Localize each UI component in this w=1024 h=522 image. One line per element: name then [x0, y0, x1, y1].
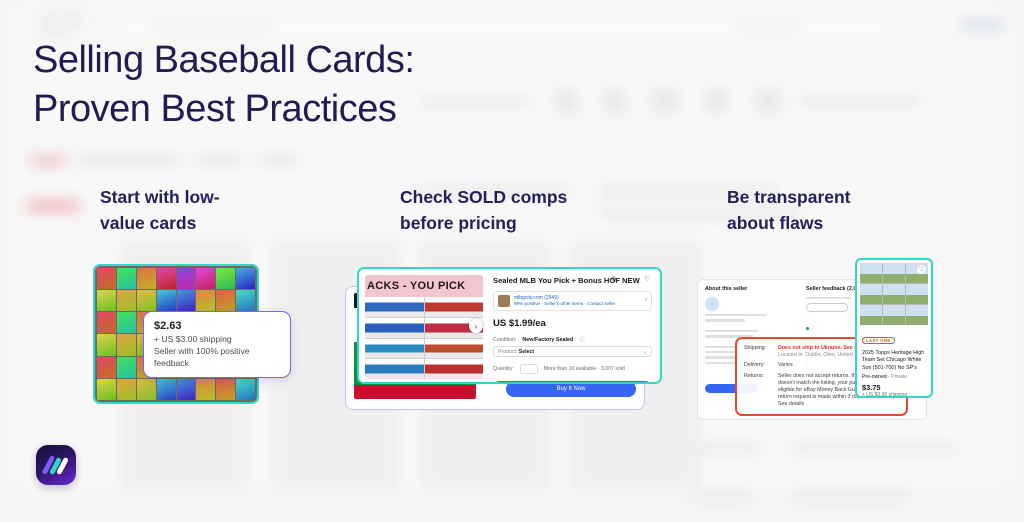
- heart-icon[interactable]: ♡: [917, 265, 926, 274]
- last-one-badge: LAST ONE: [862, 337, 895, 344]
- seller-links[interactable]: 99% positive · Seller's other items · Co…: [514, 301, 615, 307]
- card-thumbnail: [365, 339, 424, 359]
- seller-info-box[interactable]: mlbgcity.com (2549) 99% positive · Selle…: [493, 291, 652, 311]
- card-pack: [137, 379, 156, 400]
- condition-value: New/Factory Sealed: [522, 337, 573, 343]
- card-pack: [196, 379, 215, 400]
- card-thumbnail: [906, 305, 928, 325]
- tooltip-feedback: Seller with 100% positive feedback: [154, 345, 281, 369]
- column-heading-2: Check SOLD comps before pricing: [400, 184, 630, 236]
- item-price: US $1.99/ea: [493, 318, 652, 329]
- tooltip-shipping: + US $3.00 shipping: [154, 333, 281, 345]
- condition-row: Condition: New/Factory Sealed ⓘ: [493, 336, 652, 343]
- card-pack: [177, 290, 196, 311]
- infographic-canvas: Selling Baseball Cards: Proven Best Prac…: [0, 0, 1024, 522]
- delivery-label: Delivery:: [744, 362, 778, 369]
- delivery-value: Varies: [778, 362, 793, 369]
- feedback-filter-button[interactable]: [806, 303, 848, 312]
- positive-dot-icon: [806, 327, 809, 330]
- card-pack: [216, 290, 235, 311]
- card-thumbnail: [883, 305, 905, 325]
- item-title: Sealed MLB You Pick + Bonus HOF NEW: [493, 276, 652, 286]
- product-value: Select: [519, 349, 534, 355]
- card-thumbnail: [425, 339, 484, 359]
- quantity-availability: More than 10 available · 3,007 sold: [544, 366, 625, 372]
- listing-condition: Pre-owned · Private: [862, 374, 927, 380]
- item-photo[interactable]: ACKS - YOU PICK: [365, 275, 483, 379]
- buy-it-now-button[interactable]: Buy It Now: [493, 381, 652, 384]
- column-heading-1: Start with low- value cards: [100, 184, 310, 236]
- card-thumbnail: [425, 297, 484, 317]
- card-pack: [97, 334, 116, 355]
- card-pack: [97, 379, 116, 400]
- card-pack: [177, 379, 196, 400]
- card-thumbnail: [860, 284, 882, 304]
- card-thumbnail: [365, 297, 424, 317]
- listing-price-tooltip: $2.63 + US $3.00 shipping Seller with 10…: [143, 311, 291, 378]
- card-pack: [117, 312, 136, 333]
- card-pack: [137, 268, 156, 289]
- chevron-right-icon[interactable]: ›: [645, 297, 647, 303]
- card-pack: [216, 268, 235, 289]
- shipping-label: Shipping:: [744, 345, 778, 359]
- column-heading-3: Be transparent about flaws: [727, 184, 942, 236]
- card-pack: [157, 379, 176, 400]
- product-label: Product:: [498, 349, 517, 355]
- card-pack: [97, 290, 116, 311]
- brand-logo: [36, 445, 76, 485]
- card-pack: [236, 268, 255, 289]
- chevron-down-icon[interactable]: ⌄: [643, 349, 647, 355]
- card-pack: [117, 268, 136, 289]
- card-pack: [157, 290, 176, 311]
- product-select[interactable]: Product: Select ⌄: [493, 346, 652, 357]
- card-thumbnail: [860, 263, 882, 283]
- photo-banner-text: ACKS - YOU PICK: [365, 275, 483, 297]
- flawed-listing-card-callout: ♡ LAST ONE 2025 Topps Heritage High Team…: [855, 258, 933, 398]
- card-pack: [97, 357, 116, 378]
- card-thumbnail: [365, 359, 424, 379]
- card-pack: [177, 268, 196, 289]
- card-pack: [117, 357, 136, 378]
- card-thumbnail: [883, 284, 905, 304]
- quantity-row: Quantity: More than 10 available · 3,007…: [493, 364, 652, 374]
- photo-card-grid: [365, 297, 483, 379]
- seller-avatar: [705, 297, 719, 311]
- listing-price: $3.75: [862, 383, 927, 392]
- info-icon[interactable]: ⓘ: [579, 336, 584, 343]
- listing-shipping: + US $3.00 shipping: [862, 392, 927, 398]
- card-pack: [97, 268, 116, 289]
- seller-avatar: [498, 295, 510, 307]
- chevron-right-icon[interactable]: ›: [469, 319, 483, 333]
- listing-title[interactable]: 2025 Topps Heritage High Team Set Chicag…: [862, 350, 927, 372]
- card-pack: [216, 379, 235, 400]
- card-thumbnail: [883, 263, 905, 283]
- tooltip-price: $2.63: [154, 319, 281, 333]
- returns-label: Returns:: [744, 373, 778, 409]
- page-title: Selling Baseball Cards: Proven Best Prac…: [33, 36, 414, 134]
- card-pack: [196, 268, 215, 289]
- condition-text: Pre-owned: [862, 374, 887, 380]
- condition-label: Condition:: [493, 337, 516, 343]
- card-pack: [117, 290, 136, 311]
- card-thumbnail: [425, 359, 484, 379]
- card-pack: [236, 290, 255, 311]
- quantity-label: Quantity:: [493, 366, 514, 372]
- card-pack: [117, 334, 136, 355]
- card-pack: [196, 290, 215, 311]
- quantity-input[interactable]: [520, 364, 538, 374]
- card-pack: [97, 312, 116, 333]
- card-thumbnail: [365, 318, 424, 338]
- card-pack: [157, 268, 176, 289]
- card-pack: [236, 379, 255, 400]
- card-thumbnail: [906, 284, 928, 304]
- seller-type: Private: [891, 374, 907, 380]
- card-pack: [137, 290, 156, 311]
- card-thumbnail: [860, 305, 882, 325]
- ebay-item-page-callout: ACKS - YOU PICK ⊕ ♡ › Sealed MLB You Pic…: [357, 267, 662, 384]
- about-seller-heading: About this seller: [705, 286, 793, 292]
- card-pack: [117, 379, 136, 400]
